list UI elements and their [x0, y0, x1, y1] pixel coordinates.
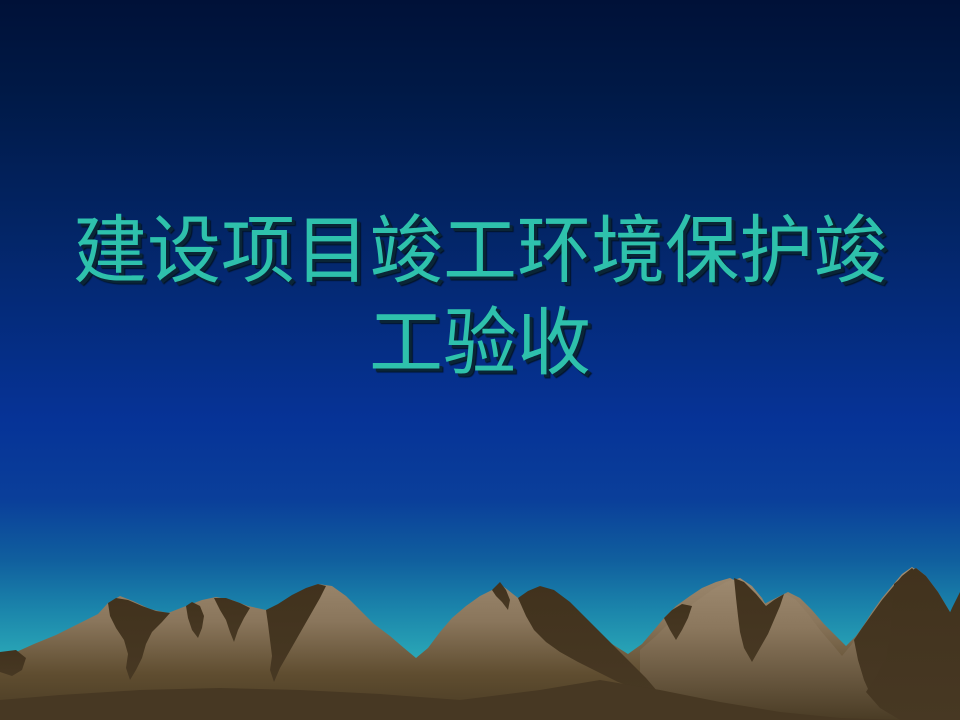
title-line-2: 工验收	[55, 297, 905, 389]
mountain-range-silhouette	[0, 540, 960, 720]
slide-title: 建设项目竣工环境保护竣 工验收	[55, 205, 905, 389]
presentation-slide: 建设项目竣工环境保护竣 工验收	[0, 0, 960, 720]
title-line-1: 建设项目竣工环境保护竣	[55, 205, 905, 297]
